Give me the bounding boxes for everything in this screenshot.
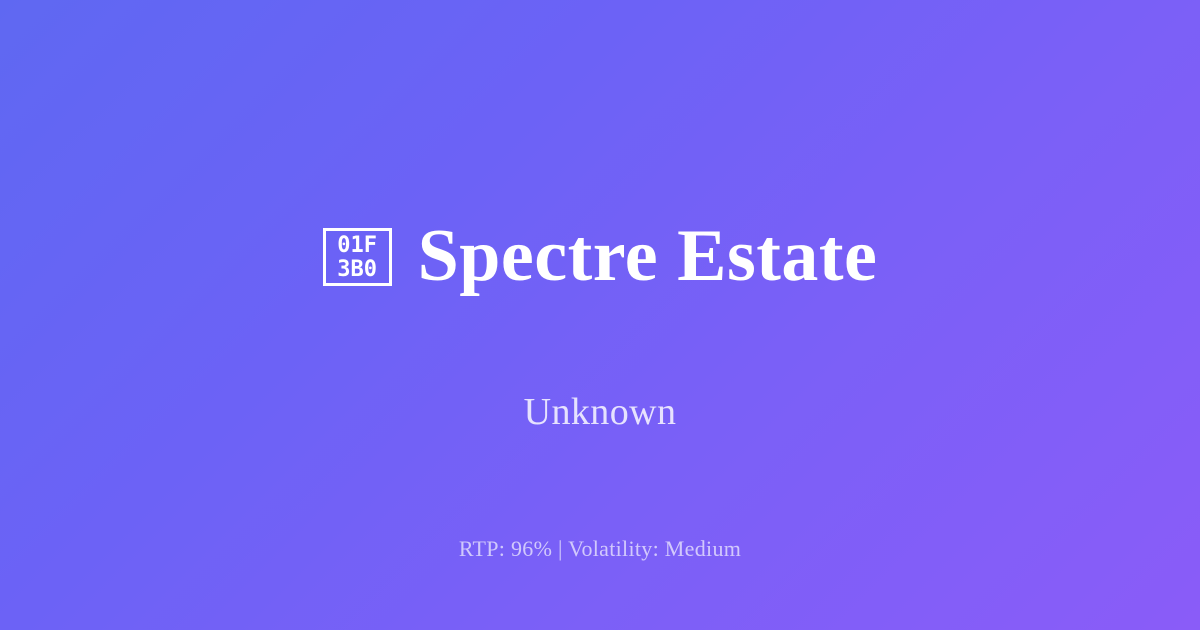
tofu-codepoint-bottom: 3B0: [337, 258, 377, 282]
title-row: 01F 3B0 Spectre Estate: [323, 169, 878, 346]
slot-machine-icon: 01F 3B0: [323, 228, 392, 286]
page-subtitle: Unknown: [524, 390, 677, 436]
tofu-codepoint-top: 01F: [337, 234, 377, 258]
og-share-card: 01F 3B0 Spectre Estate Unknown RTP: 96% …: [0, 0, 1200, 630]
game-meta-line: RTP: 96% | Volatility: Medium: [0, 535, 1200, 564]
page-title: Spectre Estate: [418, 218, 878, 296]
hero-block: 01F 3B0 Spectre Estate Unknown: [0, 169, 1200, 435]
